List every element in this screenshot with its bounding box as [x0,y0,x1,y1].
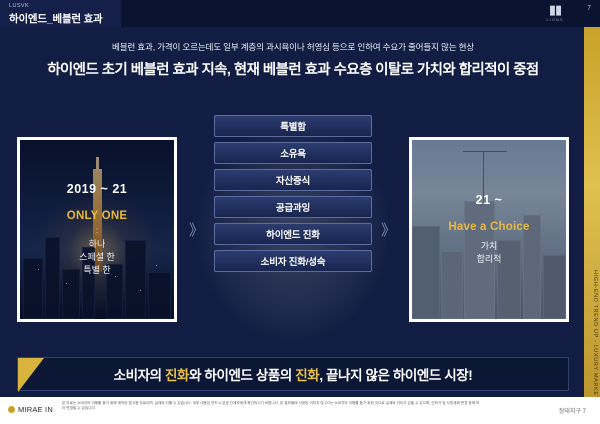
left-photo-line-1: 하나 [89,238,106,251]
right-side-strip: HIGH-END TREND UP - LUXURY MARKET [584,27,600,424]
right-photo-line-2: 합리적 [477,253,502,266]
slide: LUSVK 하이엔드_베블런 효과 ▮▮ LIONS 7 HIGH-END TR… [0,0,600,424]
banner-part-3: , 끝나지 않은 하이엔드 시장! [319,368,472,383]
page-title: 하이엔드_베블런 효과 [9,11,103,26]
banner-highlight-1: 진화 [165,368,189,383]
right-photo-year: 21 ~ [476,193,503,207]
banner-ribbon-shape [18,358,44,392]
keyword-chip: 공급과잉 [214,196,372,218]
right-photo-card: 21 ~ Have a Choice 가치 합리적 [409,137,569,322]
content-row: 2019 ~ 21 ONLY ONE : 하나 스페셜 한 특별 한 》 특별함… [17,115,569,347]
brand-logo-sub: LIONS [544,17,566,22]
keyword-chip: 하이엔드 진화 [214,223,372,245]
keyword-chip: 소유욕 [214,142,372,164]
banner-part-1: 소비자의 [114,368,165,383]
banner-part-2: 와 하이엔드 상품의 [189,368,295,383]
left-photo-line-2: 스페셜 한 [79,251,115,264]
slide-header: LUSVK 하이엔드_베블런 효과 ▮▮ LIONS 7 [0,0,600,27]
right-photo-keyword: Have a Choice [448,221,529,233]
left-photo-card: 2019 ~ 21 ONLY ONE : 하나 스페셜 한 특별 한 [17,137,177,322]
slide-body: 베블런 효과, 가격이 오르는데도 일부 계층의 과시욕이나 허영심 등으로 인… [0,27,584,397]
slide-footer: MIRAE IN 본 자료는 소비자의 이해를 돕기 위해 제작된 참고용 자료… [0,397,600,424]
left-photo-text: 2019 ~ 21 ONLY ONE : 하나 스페셜 한 특별 한 [20,140,174,319]
arrow-right-icon: 》 [381,219,393,240]
left-photo-colon: : [96,226,98,235]
banner-highlight-2: 진화 [295,368,319,383]
keyword-chip: 자산증식 [214,169,372,191]
brand-logo-mark: ▮▮ [544,3,566,16]
right-strip-label: HIGH-END TREND UP - LUXURY MARKET [592,270,598,400]
footer-logo-icon [8,406,15,413]
left-photo-keyword: ONLY ONE [67,210,127,222]
footer-page-label: 장대지구 7 [559,406,586,415]
right-photo-line-1: 가치 [481,240,498,253]
keyword-chip: 소비자 진화/성숙 [214,250,372,272]
conclusion-banner: 소비자의 진화와 하이엔드 상품의 진화, 끝나지 않은 하이엔드 시장! [17,357,569,391]
header-brand-small: LUSVK [9,3,29,9]
headline-subtitle: 베블런 효과, 가격이 오르는데도 일부 계층의 과시욕이나 허영심 등으로 인… [17,41,569,53]
footer-logo: MIRAE IN [8,405,53,414]
left-photo-line-3: 특별 한 [83,264,110,277]
keyword-chip-list: 특별함 소유욕 자산증식 공급과잉 하이엔드 진화 소비자 진화/성숙 [214,115,372,277]
headline-main: 하이엔드 초기 베블런 효과 지속, 현재 베블런 효과 수요층 이탈로 가치와… [17,58,569,79]
footer-disclaimer: 본 자료는 소비자의 이해를 돕기 위해 제작된 참고용 자료이며, 실제와 다… [62,401,482,412]
headline-block: 베블런 효과, 가격이 오르는데도 일부 계층의 과시욕이나 허영심 등으로 인… [17,41,569,79]
banner-text: 소비자의 진화와 하이엔드 상품의 진화, 끝나지 않은 하이엔드 시장! [114,364,473,384]
keyword-chip: 특별함 [214,115,372,137]
header-page-number: 7 [587,5,591,12]
left-photo-year: 2019 ~ 21 [67,182,127,196]
brand-logo: ▮▮ LIONS [544,3,566,25]
footer-logo-text: MIRAE IN [18,405,53,414]
right-photo-text: 21 ~ Have a Choice 가치 합리적 [412,140,566,319]
arrow-left-icon: 》 [189,219,201,240]
